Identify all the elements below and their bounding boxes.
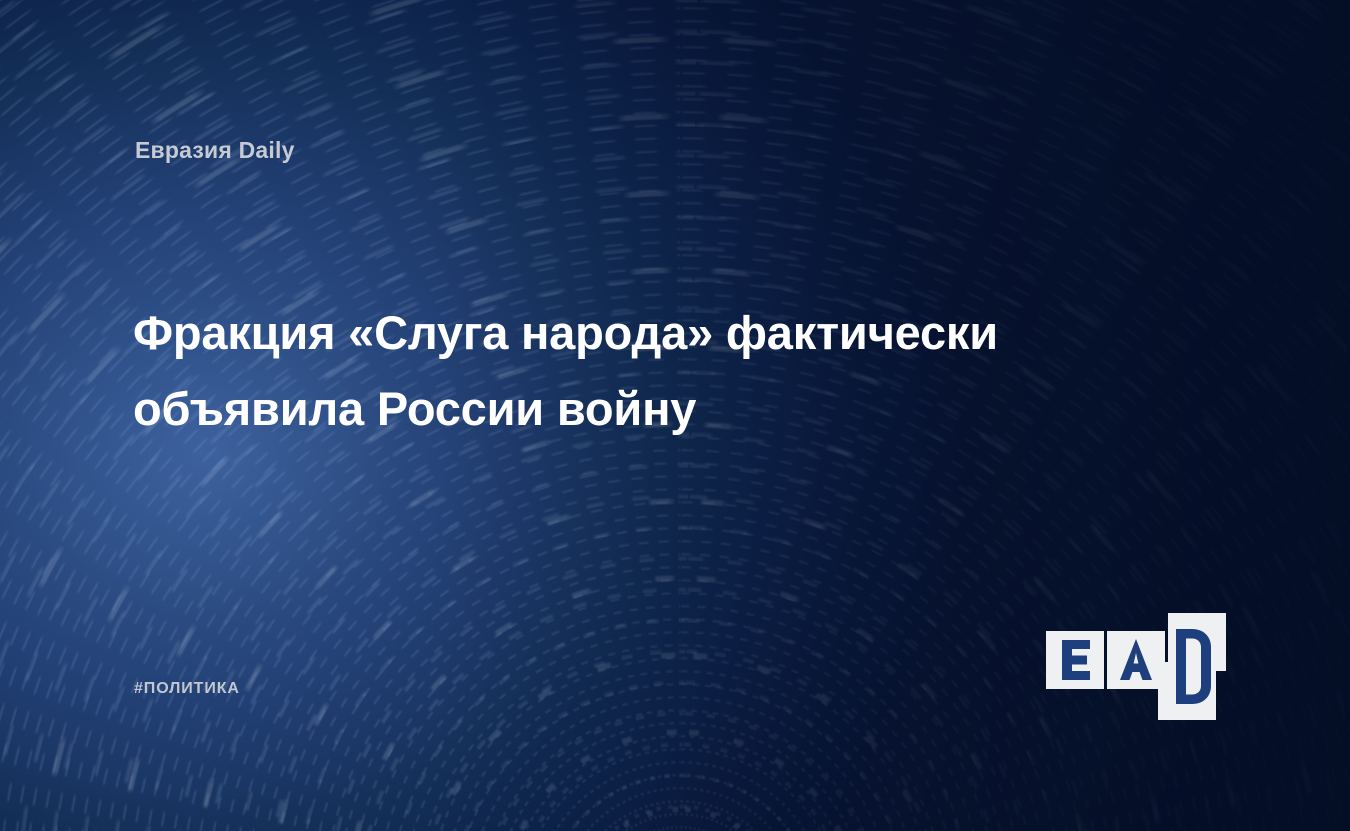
article-headline: Фракция «Слуга народа» фактически объяви… [133,295,1203,447]
headline-line-1: Фракция «Слуга народа» фактически [133,295,1203,371]
category-hashtag[interactable]: #ПОЛИТИКА [134,680,240,698]
logo-tile-a [1107,631,1165,689]
brand-logotype[interactable]: Евразия Daily [135,137,295,164]
article-share-card: Евразия Daily Фракция «Слуга народа» фак… [0,0,1350,831]
card-content: Евразия Daily Фракция «Слуга народа» фак… [0,0,1350,831]
logo-tile-e [1046,631,1104,689]
headline-line-2: объявила России войну [133,371,1203,447]
ead-logo[interactable] [1040,600,1240,720]
logo-tile-d-bottom [1158,662,1216,720]
